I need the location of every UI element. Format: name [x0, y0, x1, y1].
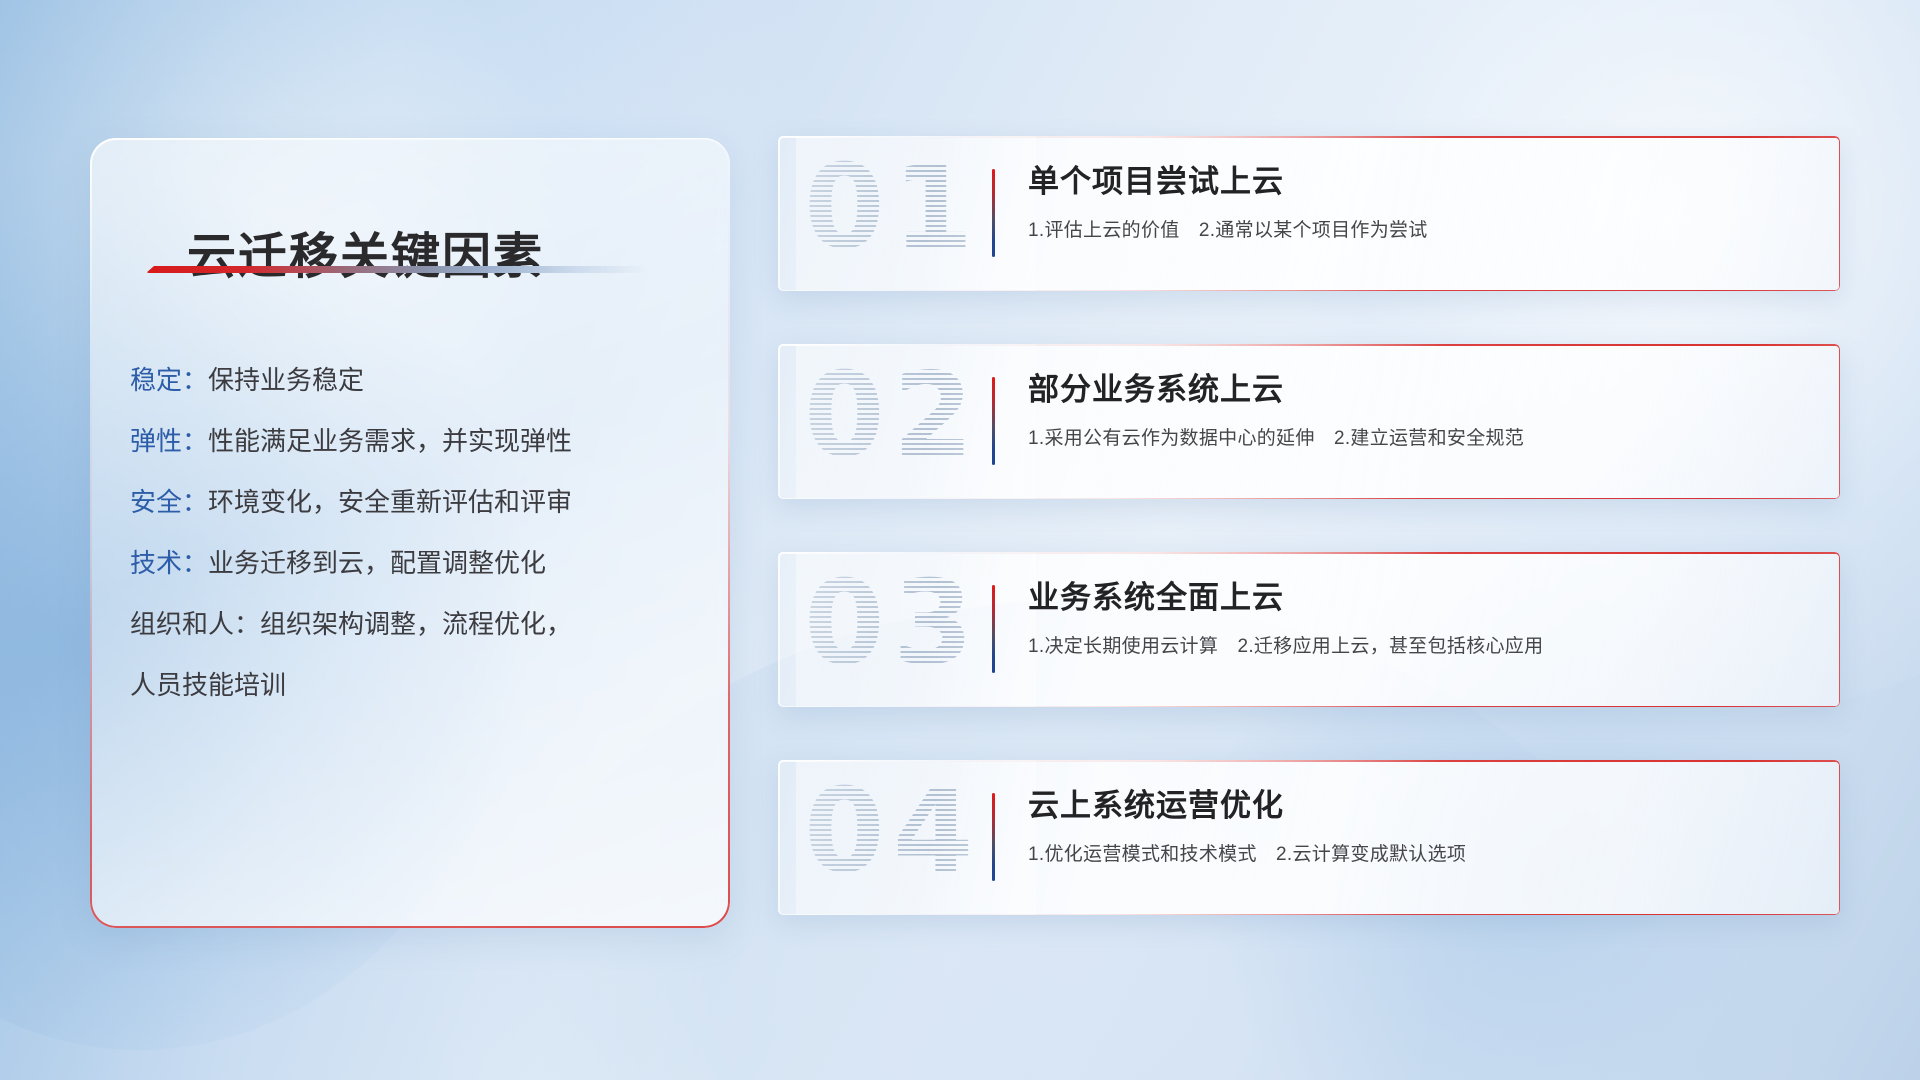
- factor-text: 环境变化，安全重新评估和评审: [208, 487, 572, 517]
- card-text-block: 部分业务系统上云 1.采用公有云作为数据中心的延伸 2.建立运营和安全规范: [1028, 368, 1810, 450]
- factor-item: 弹性：性能满足业务需求，并实现弹性: [130, 411, 690, 472]
- card-accent-bar: [992, 585, 995, 673]
- factor-label: 稳定：: [130, 365, 208, 395]
- stage-card[interactable]: 04 云上系统运营优化 1.优化运营模式和技术模式 2.云计算变成默认选项: [778, 760, 1840, 915]
- stage-card[interactable]: 02 部分业务系统上云 1.采用公有云作为数据中心的延伸 2.建立运营和安全规范: [778, 344, 1840, 499]
- factor-text: 业务迁移到云，配置调整优化: [208, 548, 546, 578]
- card-watermark-number: 03: [804, 552, 981, 703]
- card-text-block: 业务系统全面上云 1.决定长期使用云计算 2.迁移应用上云，甚至包括核心应用: [1028, 576, 1810, 658]
- factor-item: 安全：环境变化，安全重新评估和评审: [130, 472, 690, 533]
- stage-cards-list: 01 单个项目尝试上云 1.评估上云的价值 2.通常以某个项目作为尝试 02 部…: [778, 136, 1840, 968]
- card-heading: 业务系统全面上云: [1028, 576, 1810, 620]
- factor-text: 组织架构调整，流程优化，: [260, 609, 572, 639]
- factor-text: 性能满足业务需求，并实现弹性: [208, 426, 572, 456]
- stage-card[interactable]: 01 单个项目尝试上云 1.评估上云的价值 2.通常以某个项目作为尝试: [778, 136, 1840, 291]
- card-text-block: 云上系统运营优化 1.优化运营模式和技术模式 2.云计算变成默认选项: [1028, 784, 1810, 866]
- slide-stage: 云迁移关键因素 稳定：保持业务稳定 弹性：性能满足业务需求，并实现弹性 安全：环…: [0, 0, 1920, 1080]
- card-heading: 云上系统运营优化: [1028, 784, 1810, 828]
- card-watermark-number: 04: [804, 760, 981, 911]
- factor-label: 技术：: [130, 548, 208, 578]
- card-subtitle: 1.评估上云的价值 2.通常以某个项目作为尝试: [1028, 215, 1810, 242]
- factor-text: 保持业务稳定: [208, 365, 364, 395]
- factor-item-continuation: 人员技能培训: [130, 655, 690, 716]
- card-subtitle: 1.采用公有云作为数据中心的延伸 2.建立运营和安全规范: [1028, 423, 1810, 450]
- factor-label: 组织和人：: [130, 609, 260, 639]
- factor-item: 稳定：保持业务稳定: [130, 350, 690, 411]
- panel-title: 云迁移关键因素: [187, 217, 544, 288]
- card-heading: 部分业务系统上云: [1028, 368, 1810, 412]
- card-subtitle: 1.优化运营模式和技术模式 2.云计算变成默认选项: [1028, 839, 1810, 866]
- card-subtitle: 1.决定长期使用云计算 2.迁移应用上云，甚至包括核心应用: [1028, 631, 1810, 658]
- title-underline-rule: [146, 266, 646, 273]
- card-accent-bar: [992, 793, 995, 881]
- factors-list: 稳定：保持业务稳定 弹性：性能满足业务需求，并实现弹性 安全：环境变化，安全重新…: [130, 350, 690, 716]
- factor-item: 组织和人：组织架构调整，流程优化，: [130, 594, 690, 655]
- card-watermark-number: 01: [804, 136, 981, 287]
- card-heading: 单个项目尝试上云: [1028, 160, 1810, 204]
- card-watermark-number: 02: [804, 344, 981, 495]
- factor-label: 弹性：: [130, 426, 208, 456]
- card-accent-bar: [992, 377, 995, 465]
- factor-text: 人员技能培训: [130, 670, 286, 700]
- card-accent-bar: [992, 169, 995, 257]
- card-text-block: 单个项目尝试上云 1.评估上云的价值 2.通常以某个项目作为尝试: [1028, 160, 1810, 242]
- stage-card[interactable]: 03 业务系统全面上云 1.决定长期使用云计算 2.迁移应用上云，甚至包括核心应…: [778, 552, 1840, 707]
- key-factors-panel: 云迁移关键因素 稳定：保持业务稳定 弹性：性能满足业务需求，并实现弹性 安全：环…: [90, 138, 730, 928]
- factor-label: 安全：: [130, 487, 208, 517]
- factor-item: 技术：业务迁移到云，配置调整优化: [130, 533, 690, 594]
